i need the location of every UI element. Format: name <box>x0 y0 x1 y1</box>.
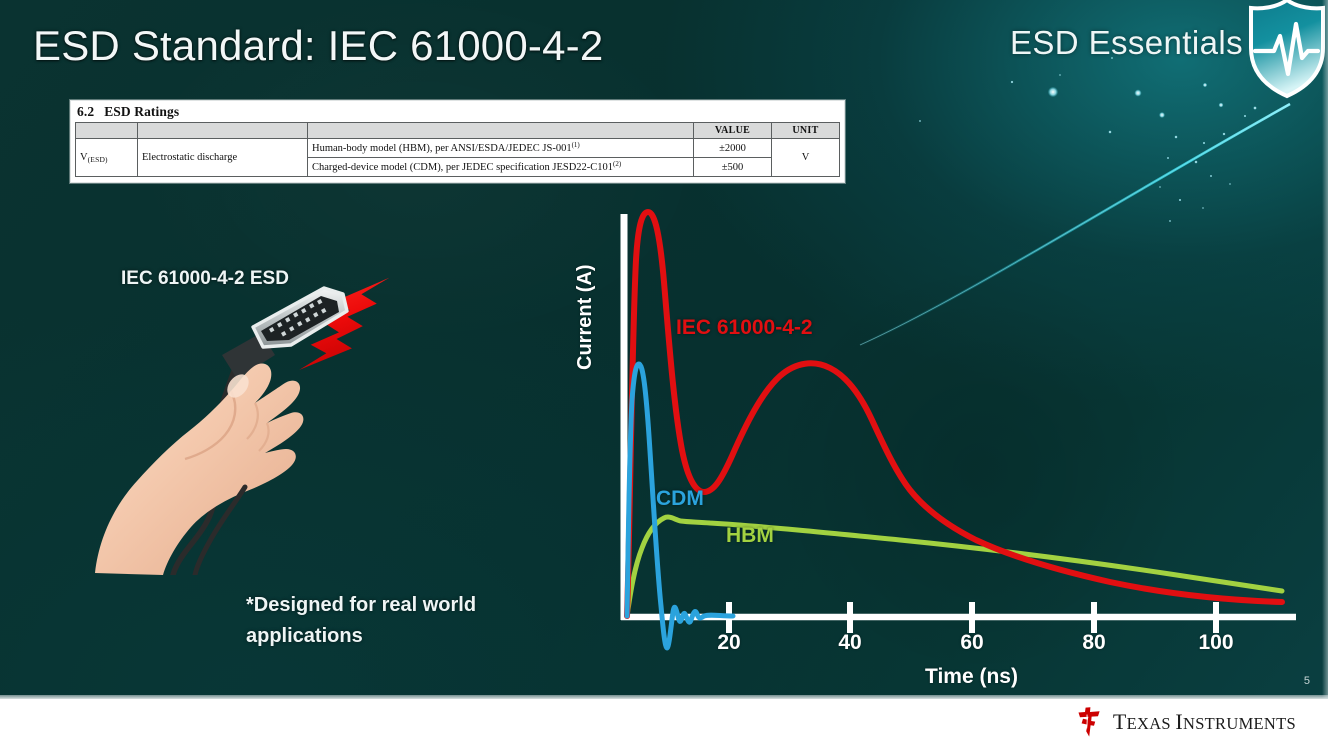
real-world-note: *Designed for real world applications <box>246 590 546 652</box>
page-number: 5 <box>1304 675 1310 687</box>
header-parameter-blank <box>138 123 308 139</box>
table-header-row: VALUE UNIT <box>76 123 840 139</box>
cell-symbol: V(ESD) <box>76 139 138 177</box>
ti-logo: TEXAS INSTRUMENTS <box>1074 706 1296 738</box>
cell-description-cdm: Charged-device model (CDM), per JEDEC sp… <box>308 158 694 177</box>
esd-waveform-chart <box>570 196 1310 696</box>
hand-holding-hdmi-connector <box>85 255 425 575</box>
chart-annotation-iec: IEC 61000-4-2 <box>676 316 813 340</box>
chart-annotation-hbm: HBM <box>726 524 774 548</box>
chart-xtick-40: 40 <box>838 631 861 655</box>
slide-title: ESD Standard: IEC 61000-4-2 <box>33 22 603 70</box>
cell-value-hbm: ±2000 <box>694 139 772 158</box>
cell-parameter: Electrostatic discharge <box>138 139 308 177</box>
symbol-subscript: (ESD) <box>88 155 108 164</box>
esd-ratings-table-card: 6.2ESD Ratings VALUE UNIT V(ESD) Electro… <box>70 100 845 183</box>
esd-ratings-table: VALUE UNIT V(ESD) Electrostatic discharg… <box>75 122 840 177</box>
chart-x-axis-label: Time (ns) <box>925 665 1018 689</box>
table-row: V(ESD) Electrostatic discharge Human-bod… <box>76 139 840 158</box>
ti-name-i: I <box>1175 709 1183 734</box>
brand-label: ESD Essentials <box>1010 24 1243 62</box>
chart-xtick-60: 60 <box>960 631 983 655</box>
chart-xtick-80: 80 <box>1082 631 1105 655</box>
header-unit: UNIT <box>772 123 840 139</box>
table-section-heading: 6.2ESD Ratings <box>71 101 844 122</box>
ti-company-name: TEXAS INSTRUMENTS <box>1113 709 1296 735</box>
ti-name-nstruments: NSTRUMENTS <box>1183 714 1296 733</box>
cell-description-hbm: Human-body model (HBM), per ANSI/ESDA/JE… <box>308 139 694 158</box>
series-iec-curve <box>627 212 1282 616</box>
ti-name-t: T <box>1113 709 1127 734</box>
footnote-1: (1) <box>572 141 580 149</box>
cell-value-cdm: ±500 <box>694 158 772 177</box>
header-value: VALUE <box>694 123 772 139</box>
cell-unit: V <box>772 139 840 177</box>
ti-name-exas: EXAS <box>1127 714 1176 733</box>
chart-xtick-100: 100 <box>1198 631 1233 655</box>
section-number: 6.2 <box>77 104 94 119</box>
header-symbol-blank <box>76 123 138 139</box>
description-cdm-text: Charged-device model (CDM), per JEDEC sp… <box>312 162 613 173</box>
footnote-2: (2) <box>613 160 621 168</box>
header-description-blank <box>308 123 694 139</box>
chart-annotation-cdm: CDM <box>656 487 704 511</box>
ti-texas-logo-icon <box>1074 706 1104 738</box>
slide-right-edge <box>1322 0 1328 699</box>
shield-pulse-icon <box>1244 0 1328 100</box>
symbol-text: V <box>80 152 88 163</box>
description-hbm-text: Human-body model (HBM), per ANSI/ESDA/JE… <box>312 143 572 154</box>
chart-xtick-20: 20 <box>717 631 740 655</box>
slide-canvas: ESD Standard: IEC 61000-4-2 ESD Essentia… <box>0 0 1328 746</box>
chart-y-axis-label: Current (A) <box>574 264 597 370</box>
section-title: ESD Ratings <box>104 104 179 119</box>
